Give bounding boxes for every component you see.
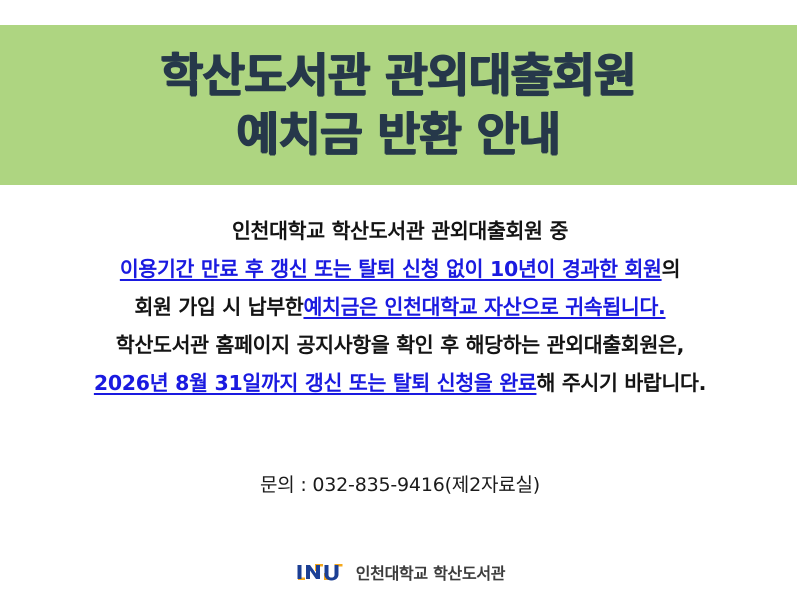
- contact-line: 문의 : 032-835-9416(제2자료실): [0, 470, 800, 497]
- header-banner: 학산도서관 관외대출회원 예치금 반환 안내: [0, 25, 797, 185]
- poster-root: 학산도서관 관외대출회원 예치금 반환 안내 인천대학교 학산도서관 관외대출회…: [0, 0, 800, 600]
- banner-title-line-1: 학산도서관 관외대출회원: [161, 46, 637, 105]
- body-line-1: 인천대학교 학산도서관 관외대출회원 중: [0, 212, 800, 250]
- footer: 인천대학교 학산도서관: [0, 560, 800, 584]
- body-line-2-segment-1: 이용기간 만료 후 갱신 또는 탈퇴 신청 없이 10년이 경과한 회원: [120, 259, 662, 280]
- body-copy: 인천대학교 학산도서관 관외대출회원 중 이용기간 만료 후 갱신 또는 탈퇴 …: [0, 212, 800, 402]
- body-line-3-segment-2: 예치금은 인천대학교 자산으로 귀속됩니다.: [303, 297, 665, 318]
- inu-logo-icon: [295, 561, 347, 583]
- body-line-5-segment-1: 2026년 8월 31일까지 갱신 또는 탈퇴 신청을 완료: [94, 373, 537, 394]
- body-line-2-segment-2: 의: [662, 259, 681, 280]
- body-line-3: 회원 가입 시 납부한 예치금은 인천대학교 자산으로 귀속됩니다.: [0, 288, 800, 326]
- banner-title-line-2: 예치금 반환 안내: [237, 105, 561, 164]
- body-line-4: 학산도서관 홈페이지 공지사항을 확인 후 해당하는 관외대출회원은,: [0, 326, 800, 364]
- body-line-5: 2026년 8월 31일까지 갱신 또는 탈퇴 신청을 완료해 주시기 바랍니다…: [0, 364, 800, 402]
- body-line-3-segment-1: 회원 가입 시 납부한: [134, 297, 303, 318]
- body-line-1-segment-1: 인천대학교 학산도서관 관외대출회원 중: [232, 221, 568, 242]
- body-line-4-segment-1: 학산도서관 홈페이지 공지사항을 확인 후 해당하는 관외대출회원은,: [116, 335, 684, 356]
- body-line-2: 이용기간 만료 후 갱신 또는 탈퇴 신청 없이 10년이 경과한 회원의: [0, 250, 800, 288]
- footer-organization-label: 인천대학교 학산도서관: [356, 560, 505, 584]
- body-line-5-segment-2: 해 주시기 바랍니다.: [536, 373, 706, 394]
